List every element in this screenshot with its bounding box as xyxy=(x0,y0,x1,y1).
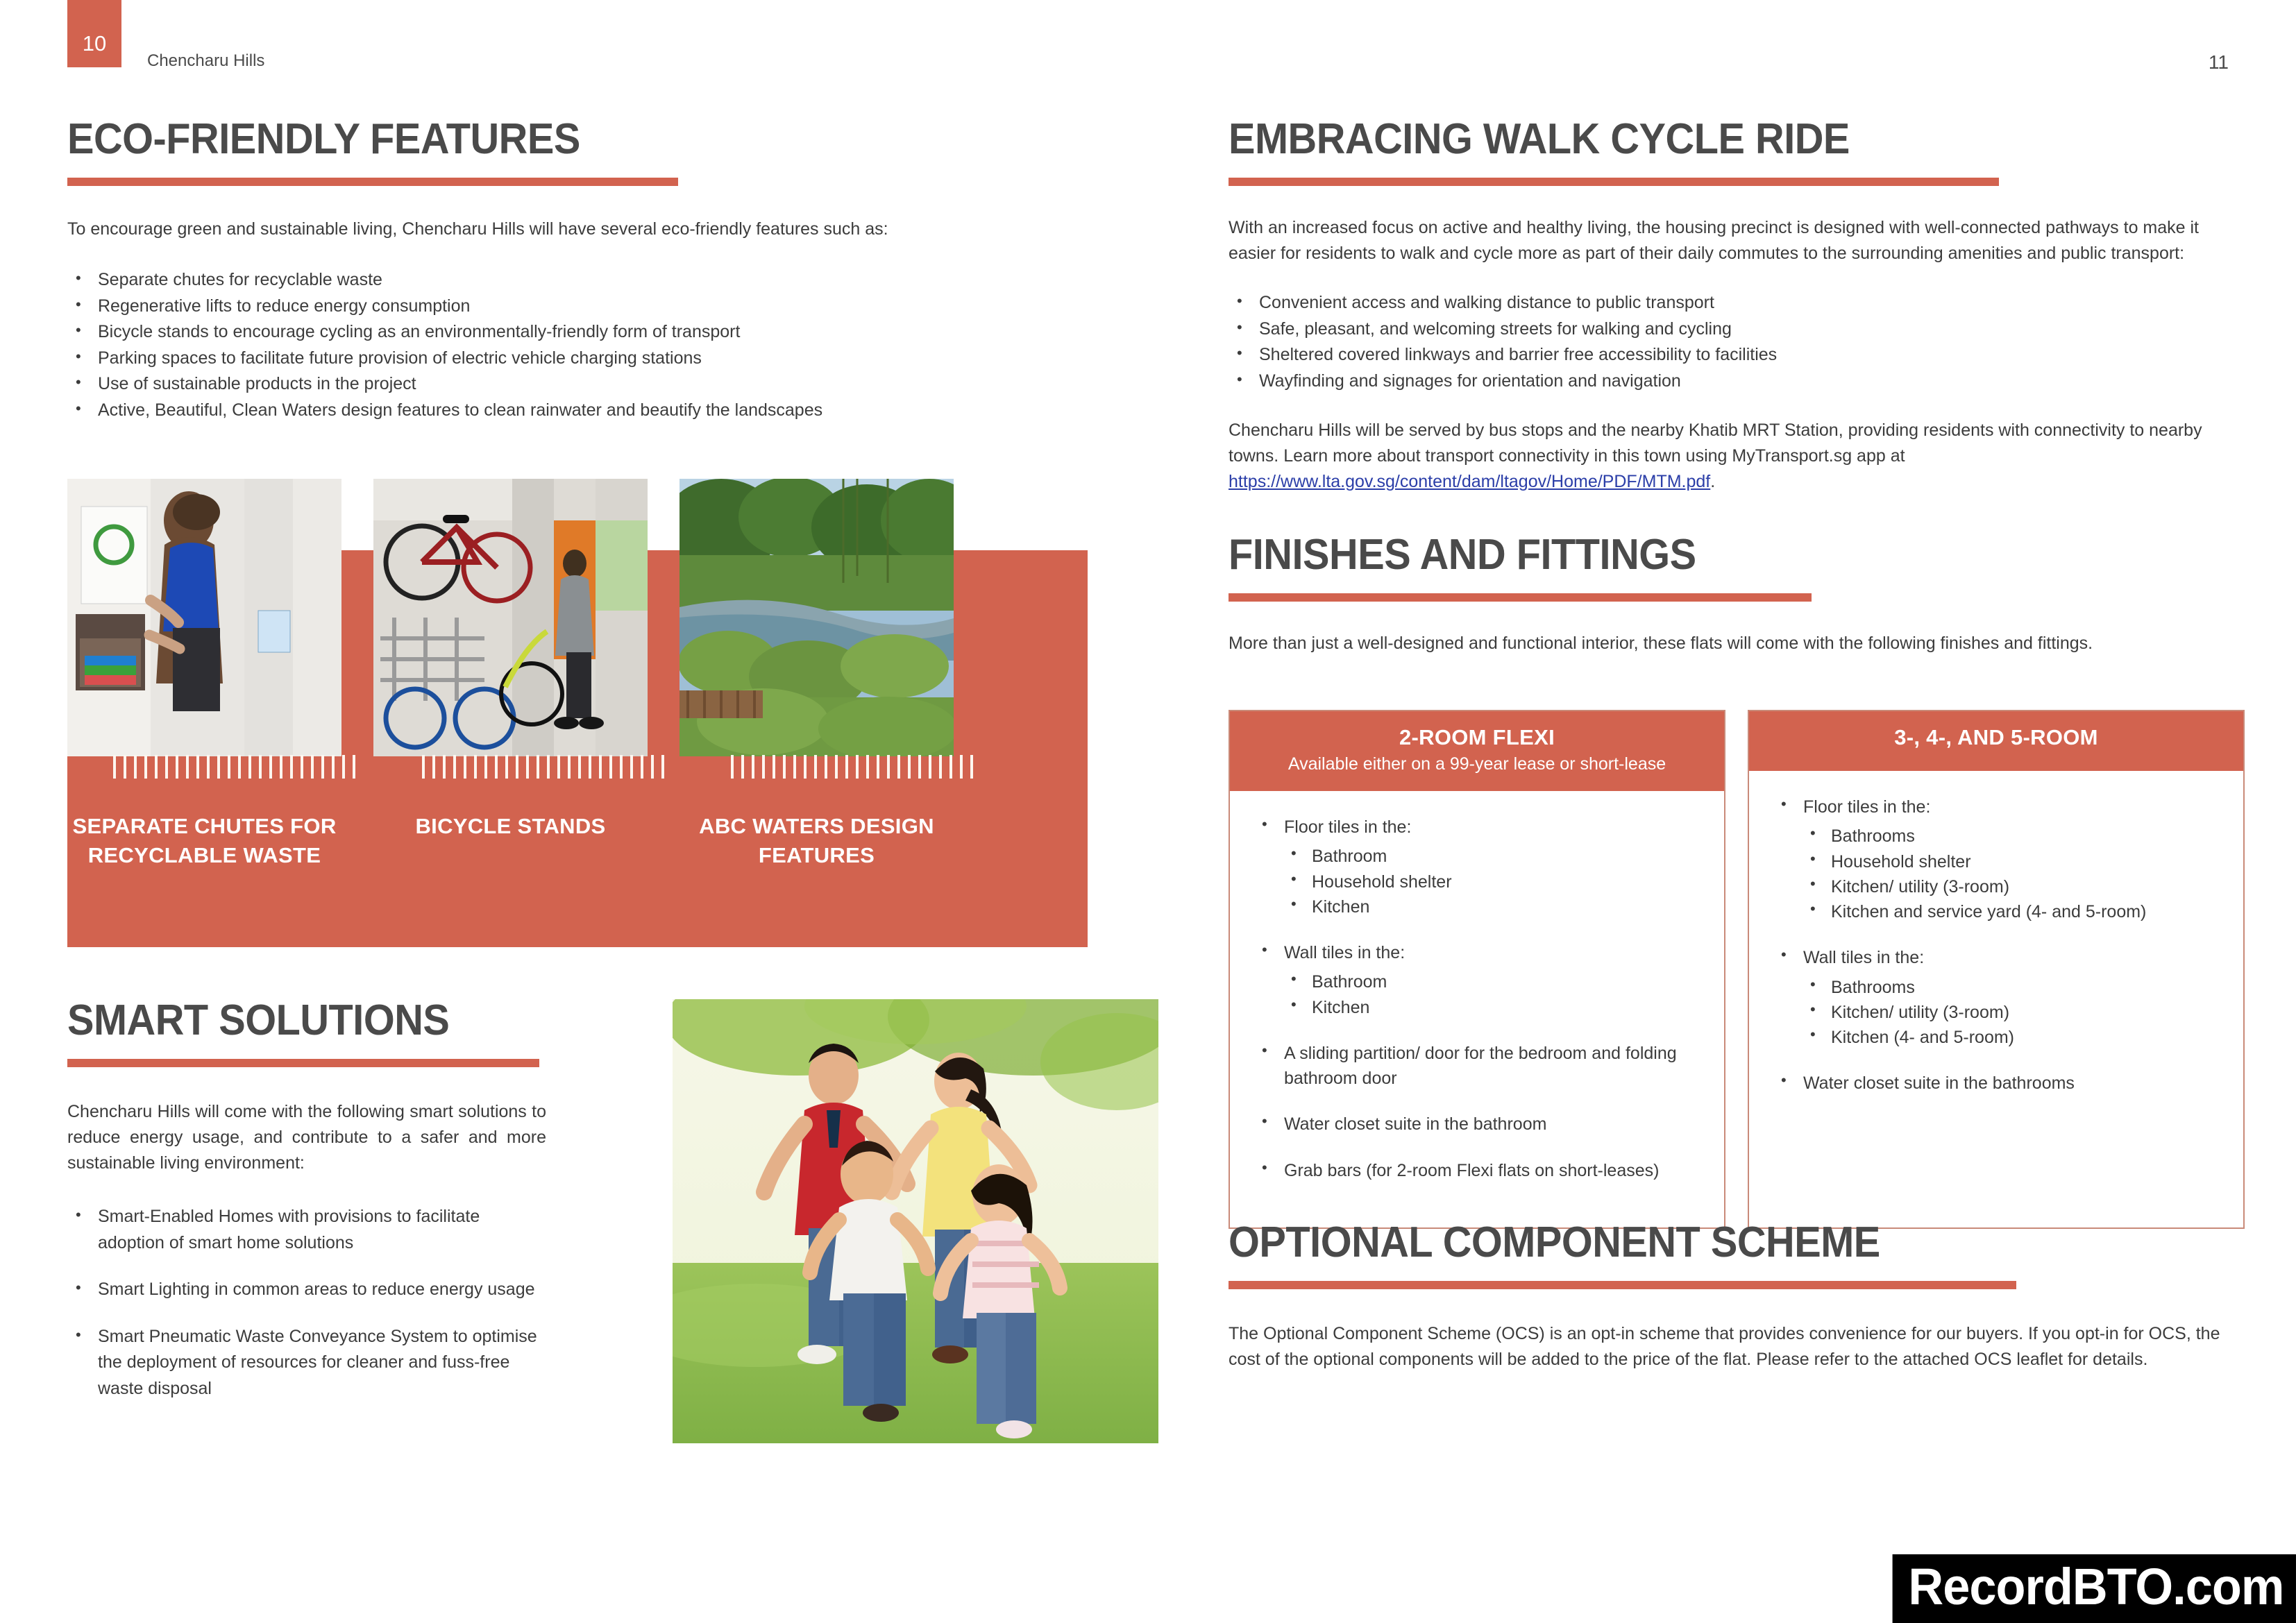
finishes-box-title: 2-ROOM FLEXI xyxy=(1237,725,1717,750)
transport-text-after-link: . xyxy=(1710,472,1715,491)
bicycle-stands-photo xyxy=(373,479,648,756)
list-item: Use of sustainable products in the proje… xyxy=(67,371,1088,398)
finishes-box-2-room-flexi: 2-ROOM FLEXI Available either on a 99-ye… xyxy=(1229,710,1725,1229)
family-running-photo xyxy=(673,999,1158,1443)
smart-heading-rule xyxy=(67,1059,539,1067)
list-item: Safe, pleasant, and welcoming streets fo… xyxy=(1229,316,2235,343)
list-item: Smart Pneumatic Waste Conveyance System … xyxy=(67,1324,546,1402)
sub-list-item: Kitchen (4- and 5-room) xyxy=(1803,1025,2225,1050)
list-item: Grab bars (for 2-room Flexi flats on sho… xyxy=(1251,1158,1706,1183)
ocs-body-text: The Optional Component Scheme (OCS) is a… xyxy=(1229,1321,2242,1373)
finishes-and-fittings-heading: FINISHES AND FITTINGS xyxy=(1229,534,2165,577)
finishes-intro-text: More than just a well-designed and funct… xyxy=(1229,631,2235,656)
eco-photo-captions: SEPARATE CHUTES FOR RECYCLABLE WASTE BIC… xyxy=(67,812,1088,870)
sub-list-item: Kitchen/ utility (3-room) xyxy=(1803,1000,2225,1025)
caption-divider-ticks xyxy=(113,755,355,779)
finishes-box-header: 3-, 4-, AND 5-ROOM xyxy=(1749,711,2243,771)
ocs-heading: OPTIONAL COMPONENT SCHEME xyxy=(1229,1221,2171,1264)
list-item: Regenerative lifts to reduce energy cons… xyxy=(67,294,1088,320)
list-item: Floor tiles in the: Bathrooms Household … xyxy=(1770,794,2225,924)
sub-list-item: Kitchen and service yard (4- and 5-room) xyxy=(1803,899,2225,924)
recycling-chute-photo xyxy=(67,479,341,756)
eco-heading-rule xyxy=(67,178,678,186)
transport-connectivity-text: Chencharu Hills will be served by bus st… xyxy=(1229,418,2235,495)
watermark: RecordBTO.com xyxy=(1893,1554,2296,1623)
walk-cycle-ride-heading: EMBRACING WALK CYCLE RIDE xyxy=(1229,118,2165,161)
finishes-box-subtitle: Available either on a 99-year lease or s… xyxy=(1237,754,1717,774)
eco-friendly-heading: ECO-FRIENDLY FEATURES xyxy=(67,118,1016,161)
smart-intro-text: Chencharu Hills will come with the follo… xyxy=(67,1099,546,1176)
sub-list: Bathroom Household shelter Kitchen xyxy=(1284,844,1706,919)
list-item: Wall tiles in the: Bathroom Kitchen xyxy=(1251,940,1706,1020)
smart-bullet-list: Smart-Enabled Homes with provisions to f… xyxy=(67,1204,546,1402)
sub-list: Bathrooms Kitchen/ utility (3-room) Kitc… xyxy=(1803,975,2225,1051)
walk-heading-rule xyxy=(1229,178,1999,186)
left-column: ECO-FRIENDLY FEATURES To encourage green… xyxy=(67,118,1088,423)
ocs-section: OPTIONAL COMPONENT SCHEME The Optional C… xyxy=(1229,1221,2242,1373)
photo-caption: SEPARATE CHUTES FOR RECYCLABLE WASTE xyxy=(67,812,341,870)
page-number-right: 11 xyxy=(2209,51,2229,74)
sub-list-item: Bathroom xyxy=(1284,969,1706,994)
finishes-boxes-row: 2-ROOM FLEXI Available either on a 99-ye… xyxy=(1229,710,2245,1229)
smart-solutions-text: SMART SOLUTIONS Chencharu Hills will com… xyxy=(67,999,546,1402)
list-item: Active, Beautiful, Clean Waters design f… xyxy=(67,398,1088,424)
photo-caption: ABC WATERS DESIGN FEATURES xyxy=(679,812,954,870)
finishes-box-header: 2-ROOM FLEXI Available either on a 99-ye… xyxy=(1230,711,1724,791)
caption-divider-ticks xyxy=(731,755,973,779)
document-title: Chencharu Hills xyxy=(147,51,264,71)
walk-intro-text: With an increased focus on active and he… xyxy=(1229,215,2235,266)
sub-list: Bathrooms Household shelter Kitchen/ uti… xyxy=(1803,824,2225,924)
finishes-list: Floor tiles in the: Bathroom Household s… xyxy=(1251,815,1706,1183)
list-item-label: Wall tiles in the: xyxy=(1284,943,1405,962)
mytransport-pdf-link[interactable]: https://www.lta.gov.sg/content/dam/ltago… xyxy=(1229,472,1710,491)
sub-list-item: Household shelter xyxy=(1803,849,2225,874)
smart-solutions-section: SMART SOLUTIONS Chencharu Hills will com… xyxy=(67,999,1088,1422)
list-item: Wall tiles in the: Bathrooms Kitchen/ ut… xyxy=(1770,945,2225,1050)
list-item-label: Floor tiles in the: xyxy=(1803,797,1930,817)
finishes-heading-rule xyxy=(1229,593,1812,602)
right-column: EMBRACING WALK CYCLE RIDE With an increa… xyxy=(1229,118,2235,656)
sub-list: Bathroom Kitchen xyxy=(1284,969,1706,1020)
finishes-box-title: 3-, 4-, AND 5-ROOM xyxy=(1756,725,2236,750)
walk-bullet-list: Convenient access and walking distance t… xyxy=(1229,290,2235,394)
photo-caption: BICYCLE STANDS xyxy=(373,812,648,870)
finishes-box-3-4-5-room: 3-, 4-, AND 5-ROOM Floor tiles in the: B… xyxy=(1748,710,2245,1229)
list-item: Wayfinding and signages for orientation … xyxy=(1229,368,2235,395)
smart-solutions-heading: SMART SOLUTIONS xyxy=(67,999,513,1042)
eco-bullet-list: Separate chutes for recyclable waste Reg… xyxy=(67,267,1088,423)
list-item: Water closet suite in the bathrooms xyxy=(1770,1071,2225,1096)
caption-divider-ticks xyxy=(422,755,664,779)
list-item: Sheltered covered linkways and barrier f… xyxy=(1229,342,2235,368)
sub-list-item: Bathrooms xyxy=(1803,824,2225,849)
list-item: Convenient access and walking distance t… xyxy=(1229,290,2235,316)
list-item: Water closet suite in the bathroom xyxy=(1251,1112,1706,1137)
list-item: Parking spaces to facilitate future prov… xyxy=(67,346,1088,372)
eco-photo-strip xyxy=(67,479,1088,770)
finishes-box-body: Floor tiles in the: Bathrooms Household … xyxy=(1749,771,2243,1159)
sub-list-item: Kitchen xyxy=(1284,894,1706,919)
sub-list-item: Kitchen xyxy=(1284,995,1706,1020)
sub-list-item: Bathroom xyxy=(1284,844,1706,869)
finishes-list: Floor tiles in the: Bathrooms Household … xyxy=(1770,794,2225,1096)
page-number-left: 10 xyxy=(67,0,121,67)
list-item: Floor tiles in the: Bathroom Household s… xyxy=(1251,815,1706,919)
list-item-label: Wall tiles in the: xyxy=(1803,948,1924,967)
sub-list-item: Household shelter xyxy=(1284,869,1706,894)
ocs-heading-rule xyxy=(1229,1281,2016,1289)
eco-intro-text: To encourage green and sustainable livin… xyxy=(67,216,1088,242)
sub-list-item: Kitchen/ utility (3-room) xyxy=(1803,874,2225,899)
list-item: Smart Lighting in common areas to reduce… xyxy=(67,1277,546,1303)
transport-text-before-link: Chencharu Hills will be served by bus st… xyxy=(1229,420,2202,466)
finishes-box-body: Floor tiles in the: Bathroom Household s… xyxy=(1230,791,1724,1227)
list-item: Smart-Enabled Homes with provisions to f… xyxy=(67,1204,546,1256)
list-item: Separate chutes for recyclable waste xyxy=(67,267,1088,294)
list-item: Bicycle stands to encourage cycling as a… xyxy=(67,319,1088,346)
abc-waters-photo xyxy=(679,479,954,756)
list-item: A sliding partition/ door for the bedroo… xyxy=(1251,1041,1706,1091)
list-item-label: Floor tiles in the: xyxy=(1284,817,1411,837)
sub-list-item: Bathrooms xyxy=(1803,975,2225,1000)
